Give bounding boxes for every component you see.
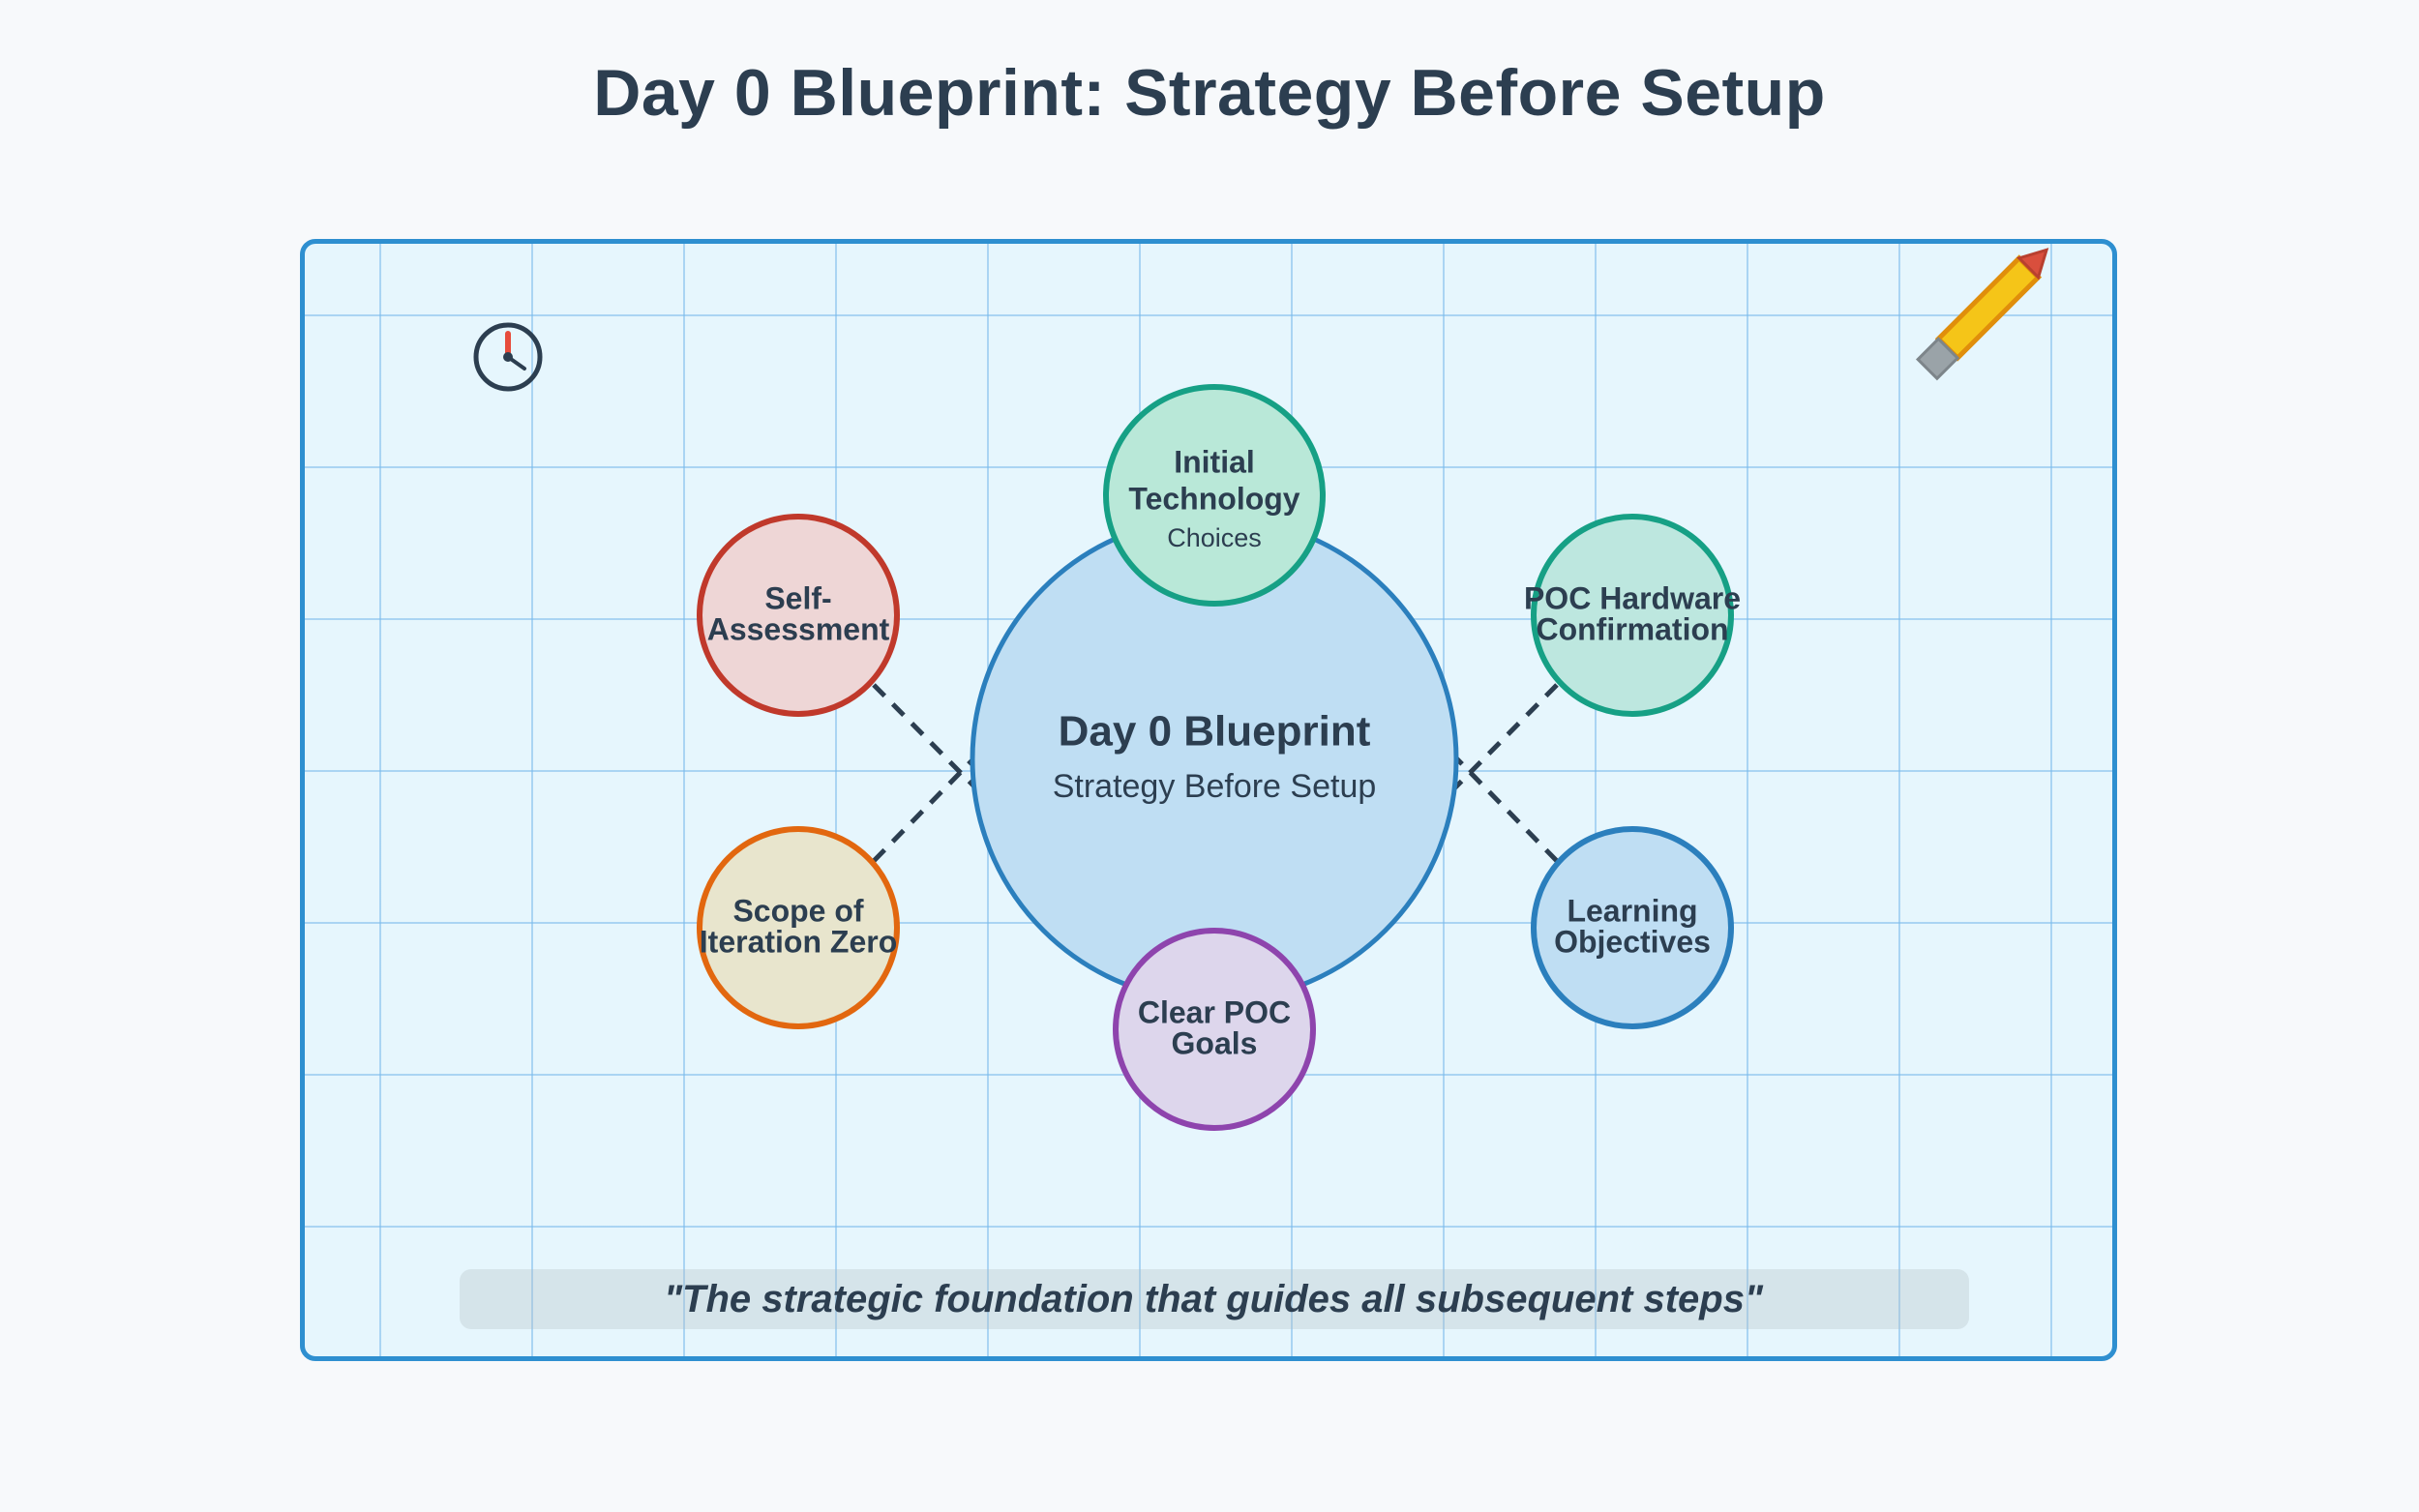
node-poc-hardware-confirmation[interactable]: POC HardwareConfirmation bbox=[1524, 517, 1741, 714]
node-title-initial-technology-choices-line1: Initial bbox=[1174, 444, 1255, 479]
node-subtitle-self-assessment: Assessment bbox=[707, 611, 890, 646]
page-title: Day 0 Blueprint: Strategy Before Setup bbox=[0, 60, 2419, 126]
node-subtitle-clear-poc-goals: Goals bbox=[1172, 1025, 1258, 1060]
node-subtitle-poc-hardware-confirmation: Confirmation bbox=[1536, 611, 1728, 646]
node-title-poc-hardware-confirmation: POC Hardware bbox=[1524, 580, 1741, 615]
node-self-assessment[interactable]: Self-Assessment bbox=[700, 517, 897, 714]
canvas: Day 0 Blueprint: Strategy Before Setup D… bbox=[0, 0, 2419, 1512]
node-clear-poc-goals[interactable]: Clear POCGoals bbox=[1116, 931, 1313, 1128]
whiteboard-panel: Day 0 BlueprintStrategy Before SetupInit… bbox=[300, 239, 2117, 1361]
mindmap-diagram: Day 0 BlueprintStrategy Before SetupInit… bbox=[305, 244, 2117, 1361]
node-learning-objectives[interactable]: LearningObjectives bbox=[1534, 829, 1731, 1026]
node-title-initial-technology-choices-line2: Technology bbox=[1128, 481, 1299, 516]
nodes-layer: Day 0 BlueprintStrategy Before SetupInit… bbox=[700, 387, 1741, 1128]
board-caption: "The strategic foundation that guides al… bbox=[305, 1269, 2117, 1329]
node-scope-of-iteration-zero[interactable]: Scope ofIteration Zero bbox=[700, 829, 897, 1026]
node-initial-technology-choices[interactable]: InitialTechnologyChoices bbox=[1106, 387, 1323, 604]
node-subtitle-initial-technology-choices: Choices bbox=[1167, 523, 1262, 552]
node-title-self-assessment: Self- bbox=[764, 580, 831, 615]
node-subtitle-day-0-blueprint: Strategy Before Setup bbox=[1053, 768, 1377, 805]
node-title-learning-objectives: Learning bbox=[1567, 893, 1697, 928]
node-title-day-0-blueprint: Day 0 Blueprint bbox=[1059, 708, 1371, 756]
node-subtitle-scope-of-iteration-zero: Iteration Zero bbox=[700, 924, 897, 959]
node-subtitle-learning-objectives: Objectives bbox=[1554, 924, 1711, 959]
node-title-clear-poc-goals: Clear POC bbox=[1138, 994, 1291, 1029]
node-title-scope-of-iteration-zero: Scope of bbox=[732, 893, 863, 928]
pencil-icon bbox=[1882, 239, 2085, 413]
clock-icon bbox=[469, 318, 547, 396]
